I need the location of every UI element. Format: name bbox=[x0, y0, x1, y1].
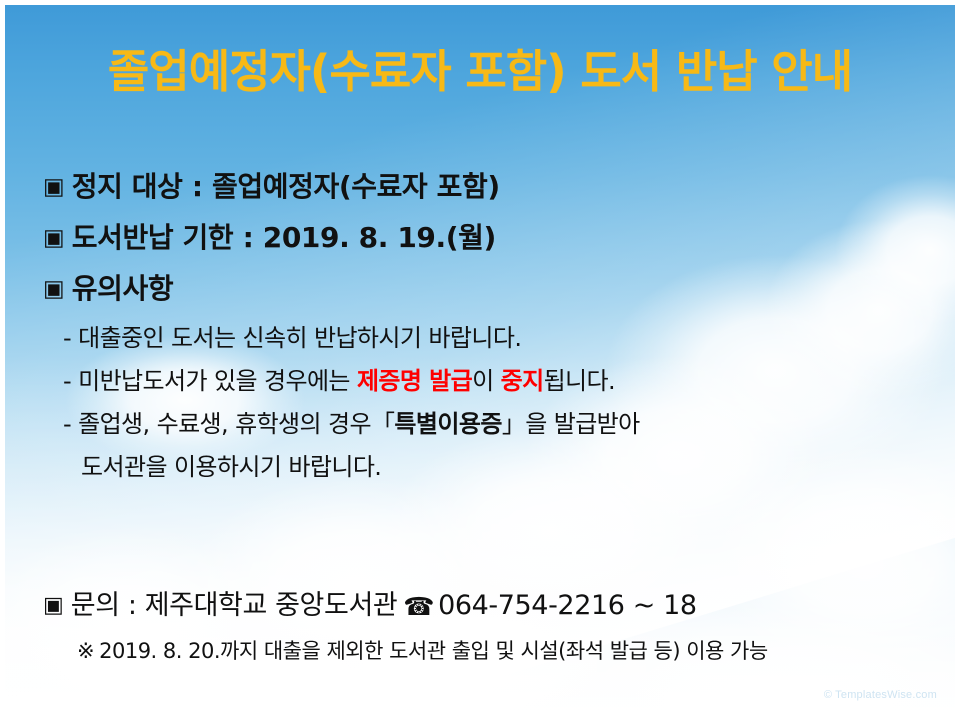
sub-note-2-highlight-issue: 제증명 발급 bbox=[357, 367, 472, 395]
template-watermark: © TemplatesWise.com bbox=[824, 689, 937, 701]
page-title: 졸업예정자(수료자 포함) 도서 반납 안내 bbox=[5, 47, 955, 97]
sub-note-2-highlight-suspend: 중지 bbox=[501, 367, 544, 395]
list-item-deadline-label: 도서반납 기한 : 2019. 8. 19.(월) bbox=[72, 221, 496, 254]
footnote-line: ※2019. 8. 20.까지 대출을 제외한 도서관 출입 및 시설(좌석 발… bbox=[77, 635, 768, 665]
contact-line: ▣문의 : 제주대학교 중앙도서관☎064-754-2216 ~ 18 bbox=[43, 583, 697, 622]
sub-note-1-text: - 대출중인 도서는 신속히 반납하시기 바랍니다. bbox=[63, 324, 521, 352]
sub-note-special-pass-continued: 도서관을 이용하시기 바랍니다. bbox=[81, 455, 943, 479]
square-bullet-icon: ▣ bbox=[43, 593, 64, 618]
sub-note-special-pass: - 졸업생, 수료생, 휴학생의 경우「특별이용증」을 발급받아 bbox=[63, 412, 943, 436]
list-item-target: ▣정지 대상 : 졸업예정자(수료자 포함) bbox=[43, 173, 943, 201]
contact-phone-number: 064-754-2216 ~ 18 bbox=[438, 590, 697, 621]
footnote-text: 2019. 8. 20.까지 대출을 제외한 도서관 출입 및 시설(좌석 발급… bbox=[99, 639, 768, 663]
square-bullet-icon: ▣ bbox=[43, 176, 65, 199]
list-item-target-label: 정지 대상 : 졸업예정자(수료자 포함) bbox=[72, 170, 500, 203]
reference-mark-icon: ※ bbox=[77, 639, 94, 663]
contact-label: 문의 : 제주대학교 중앙도서관 bbox=[71, 590, 398, 621]
bullet-list: ▣정지 대상 : 졸업예정자(수료자 포함) ▣도서반납 기한 : 2019. … bbox=[43, 173, 943, 498]
telephone-icon: ☎ bbox=[403, 592, 434, 621]
square-bullet-icon: ▣ bbox=[43, 227, 65, 250]
list-item-deadline: ▣도서반납 기한 : 2019. 8. 19.(월) bbox=[43, 224, 943, 252]
sub-note-2-mid: 이 bbox=[472, 367, 501, 395]
sub-note-3-pre: - 졸업생, 수료생, 휴학생의 경우「 bbox=[63, 410, 394, 438]
sub-note-3-continuation-text: 도서관을 이용하시기 바랍니다. bbox=[81, 453, 381, 481]
list-item-precautions-label: 유의사항 bbox=[72, 272, 173, 305]
slide-content: 졸업예정자(수료자 포함) 도서 반납 안내 ▣정지 대상 : 졸업예정자(수료… bbox=[5, 5, 955, 715]
presentation-slide: 졸업예정자(수료자 포함) 도서 반납 안내 ▣정지 대상 : 졸업예정자(수료… bbox=[0, 0, 960, 720]
sub-note-3-post: 」을 발급받아 bbox=[502, 410, 640, 438]
sub-note-2-post: 됩니다. bbox=[544, 367, 615, 395]
list-item-precautions: ▣유의사항 bbox=[43, 275, 943, 303]
sub-note-3-emphasis: 특별이용증 bbox=[394, 410, 501, 438]
sub-note-certificate-suspension: - 미반납도서가 있을 경우에는 제증명 발급이 중지됩니다. bbox=[63, 369, 943, 393]
sub-note-2-pre: - 미반납도서가 있을 경우에는 bbox=[63, 367, 357, 395]
square-bullet-icon: ▣ bbox=[43, 278, 65, 301]
sub-note-return-promptly: - 대출중인 도서는 신속히 반납하시기 바랍니다. bbox=[63, 326, 943, 350]
